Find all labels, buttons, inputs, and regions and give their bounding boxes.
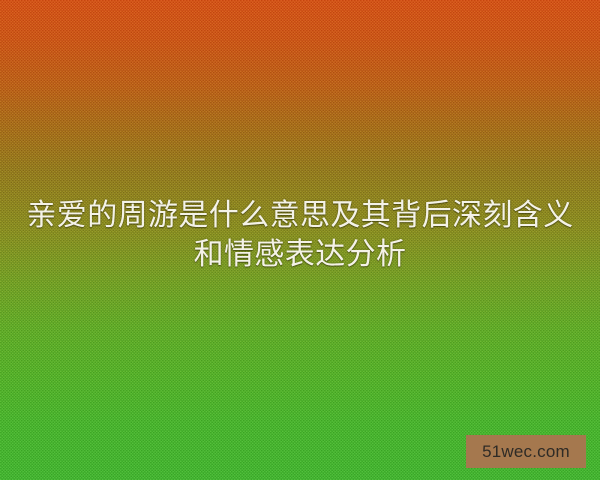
watermark-label: 51wec.com (482, 443, 570, 460)
headline-line-1: 亲爱的周游是什么意思及其背后深刻含义 (18, 196, 582, 235)
headline-line-2: 和情感表达分析 (18, 235, 582, 274)
watermark-badge: 51wec.com (466, 435, 586, 468)
cover-canvas: 亲爱的周游是什么意思及其背后深刻含义 和情感表达分析 51wec.com (0, 0, 600, 480)
headline-block: 亲爱的周游是什么意思及其背后深刻含义 和情感表达分析 (0, 196, 600, 274)
